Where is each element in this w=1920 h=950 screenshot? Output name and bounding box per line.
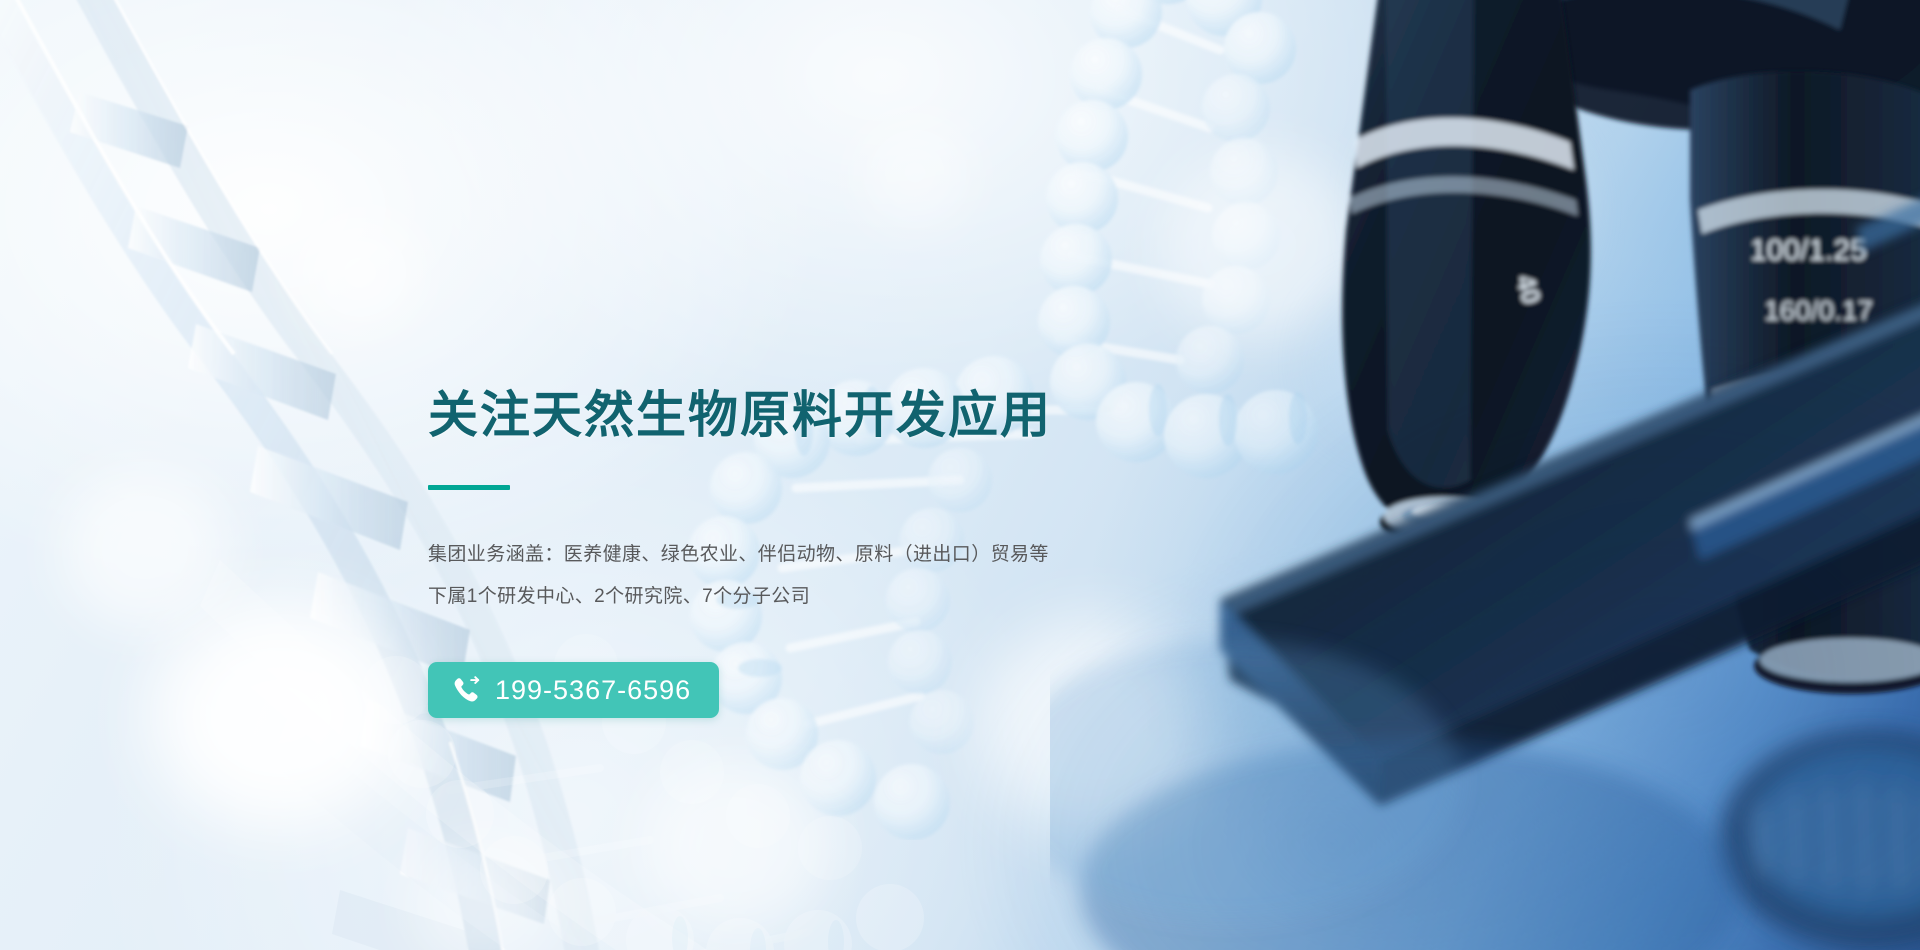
bokeh-light-5: [1160, 150, 1360, 340]
svg-text:160/0.17: 160/0.17: [1764, 295, 1873, 326]
title-divider: [428, 485, 510, 490]
bokeh-light-9: [860, 120, 970, 225]
phone-number-label: 199-5367-6596: [495, 677, 691, 704]
svg-text:40: 40: [1510, 271, 1547, 307]
hero-description-line-1: 集团业务涵盖：医养健康、绿色农业、伴侣动物、原料（进出口）贸易等: [428, 534, 1428, 576]
phone-forward-icon: [452, 675, 482, 705]
bokeh-light-1: [150, 600, 410, 830]
hero-description-line-2: 下属1个研发中心、2个研究院、7个分子公司: [428, 576, 1428, 618]
hero-banner: 40 100/1.25 160/0.17 100: [0, 0, 1920, 950]
page-title: 关注天然生物原料开发应用: [428, 388, 1428, 442]
bokeh-light-2: [60, 470, 230, 630]
svg-text:100: 100: [1758, 411, 1805, 442]
bokeh-light-6: [640, 760, 830, 930]
hero-description: 集团业务涵盖：医养健康、绿色农业、伴侣动物、原料（进出口）贸易等 下属1个研发中…: [428, 534, 1428, 618]
svg-text:100/1.25: 100/1.25: [1750, 234, 1867, 267]
bokeh-light-7: [1395, 130, 1560, 285]
hero-content: 关注天然生物原料开发应用 集团业务涵盖：医养健康、绿色农业、伴侣动物、原料（进出…: [428, 388, 1428, 718]
bokeh-light-3: [300, 215, 420, 330]
bokeh-light-10: [410, 840, 560, 950]
phone-call-button[interactable]: 199-5367-6596: [428, 662, 719, 718]
